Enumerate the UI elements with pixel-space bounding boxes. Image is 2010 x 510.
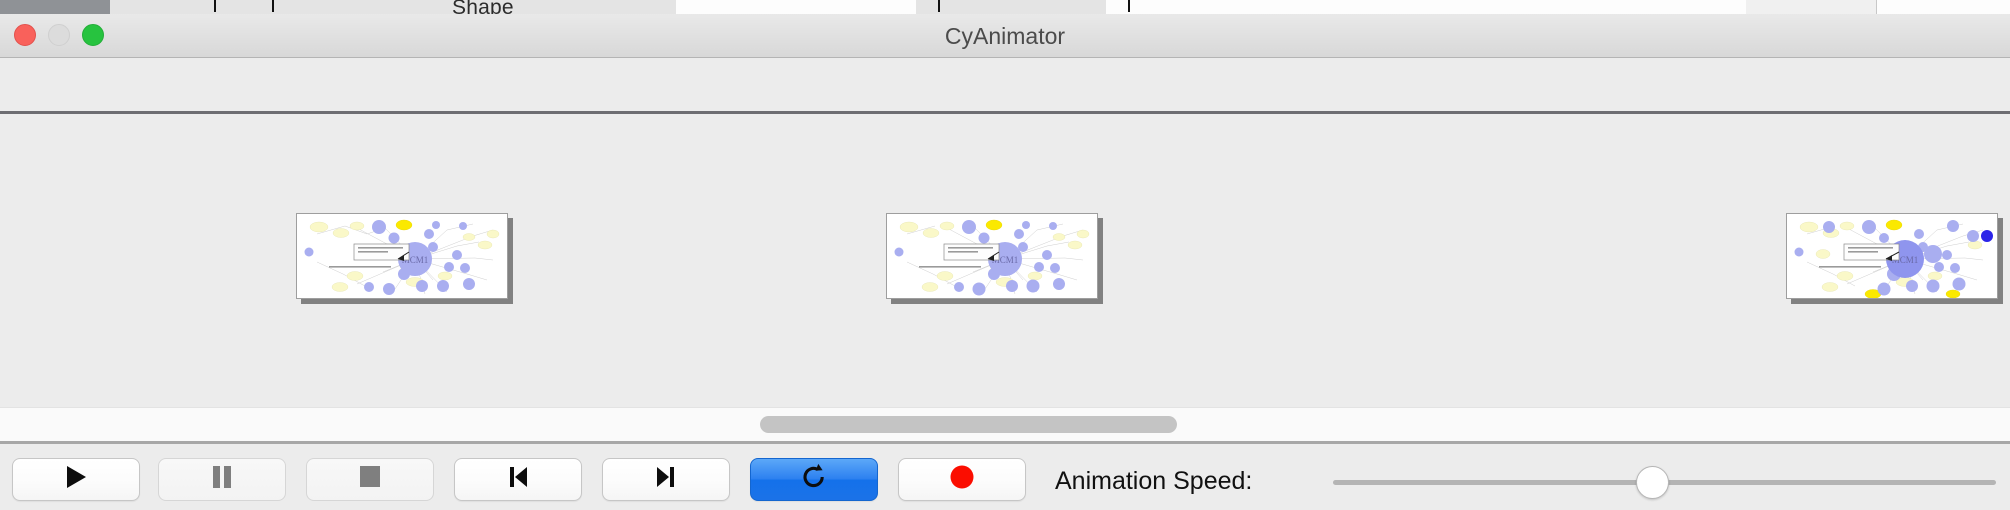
slider-thumb[interactable] <box>1636 466 1669 499</box>
loop-icon <box>800 463 828 496</box>
skip-back-icon <box>506 464 530 495</box>
record-icon <box>949 464 975 495</box>
first-frame-button[interactable] <box>454 458 582 501</box>
loop-button[interactable] <box>750 458 878 501</box>
background-window-sliver: Shape <box>0 0 2010 14</box>
playback-control-bar: Animation Speed: <box>0 444 2010 510</box>
frame-thumbnail-2[interactable]: MCM1 <box>886 213 1098 299</box>
last-frame-button[interactable] <box>602 458 730 501</box>
network-graph-preview: MCM1 <box>297 214 507 298</box>
background-dark-strip <box>0 0 110 14</box>
title-bar: CyAnimator <box>0 14 2010 58</box>
timeline-panel[interactable]: MCM1 <box>0 114 2010 404</box>
network-graph-preview: MCM1 <box>1787 214 1997 298</box>
cyanimator-window: Shape CyAnimator <box>0 0 2010 510</box>
pause-icon <box>210 464 234 495</box>
stop-button[interactable] <box>306 458 434 501</box>
timeline-scrollbar-thumb[interactable] <box>760 416 1177 433</box>
play-button[interactable] <box>12 458 140 501</box>
pause-button[interactable] <box>158 458 286 501</box>
network-graph-preview: MCM1 <box>887 214 1097 298</box>
timeline-scrollbar-track[interactable] <box>0 407 2010 441</box>
frame-thumbnail-1[interactable]: MCM1 <box>296 213 508 299</box>
skip-forward-icon <box>654 464 678 495</box>
background-window-shape-label: Shape <box>452 0 514 14</box>
stop-icon <box>358 464 382 495</box>
animation-speed-slider[interactable] <box>1333 480 1996 485</box>
play-icon <box>63 463 89 496</box>
record-button[interactable] <box>898 458 1026 501</box>
frames-toolbar: Clear All Frames <box>0 58 2010 114</box>
window-title: CyAnimator <box>0 23 2010 50</box>
frame-thumbnail-3[interactable]: MCM1 <box>1786 213 1998 299</box>
animation-speed-label: Animation Speed: <box>1055 467 1252 496</box>
